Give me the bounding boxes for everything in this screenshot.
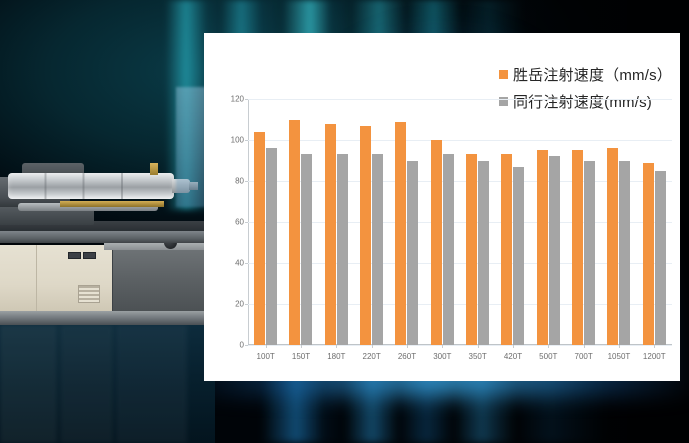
machine-plinth [0, 311, 215, 325]
x-tick: 220T [354, 345, 389, 361]
machine-floor-reflection [0, 325, 215, 443]
x-tick-mark [513, 345, 514, 348]
bar[interactable] [643, 163, 654, 345]
bar[interactable] [655, 171, 666, 345]
bar[interactable] [301, 154, 312, 345]
legend-swatch-icon-0 [499, 70, 508, 79]
bar[interactable] [395, 122, 406, 345]
x-tick-mark [336, 345, 337, 348]
machine-brass-fitting [150, 163, 158, 175]
x-tick-mark [372, 345, 373, 348]
y-tick-label: 60 [235, 218, 244, 227]
x-tick: 350T [460, 345, 495, 361]
bar[interactable] [407, 161, 418, 346]
x-tick: 420T [495, 345, 530, 361]
x-tick-mark [407, 345, 408, 348]
injection-molding-machine-photo [0, 0, 215, 443]
legend-label-0: 胜岳注射速度（mm/s） [513, 64, 672, 85]
machine-bed [0, 231, 215, 243]
bar-group [283, 99, 318, 345]
x-tick-mark [301, 345, 302, 348]
bar[interactable] [266, 148, 277, 345]
y-tick-label: 20 [235, 300, 244, 309]
y-tick-label: 100 [231, 136, 244, 145]
bar[interactable] [478, 161, 489, 346]
bar[interactable] [584, 161, 595, 346]
x-tick-mark [266, 345, 267, 348]
x-tick: 260T [389, 345, 424, 361]
plot-area: 020406080100120 [248, 99, 672, 345]
bar[interactable] [360, 126, 371, 345]
bar-group [460, 99, 495, 345]
bar[interactable] [513, 167, 524, 345]
x-tick: 150T [283, 345, 318, 361]
bar-group [354, 99, 389, 345]
bar-group [319, 99, 354, 345]
x-tick-mark [584, 345, 585, 348]
bar-group [601, 99, 636, 345]
machine-safety-guard [112, 247, 215, 311]
bar-group [495, 99, 530, 345]
machine-indicator-2 [83, 252, 96, 259]
x-tick-mark [654, 345, 655, 348]
x-tick: 700T [566, 345, 601, 361]
x-tick: 100T [248, 345, 283, 361]
bar-group [248, 99, 283, 345]
y-tick-label: 120 [231, 95, 244, 104]
bar[interactable] [254, 132, 265, 345]
x-axis-labels: 100T150T180T220T260T300T350T420T500T700T… [248, 345, 672, 361]
bar[interactable] [443, 154, 454, 345]
bar[interactable] [289, 120, 300, 346]
machine-barrel-bands [8, 173, 174, 199]
bar-group [531, 99, 566, 345]
machine-indicator-1 [68, 252, 81, 259]
bar[interactable] [431, 140, 442, 345]
slide-canvas: 胜岳注射速度（mm/s） 同行注射速度(mm/s) 02040608010012… [0, 0, 689, 443]
x-tick-mark [548, 345, 549, 348]
bar-group [425, 99, 460, 345]
x-tick: 300T [425, 345, 460, 361]
x-tick-mark [478, 345, 479, 348]
chart-card: 胜岳注射速度（mm/s） 同行注射速度(mm/s) 02040608010012… [204, 33, 680, 381]
bar-chart: 胜岳注射速度（mm/s） 同行注射速度(mm/s) 02040608010012… [204, 33, 680, 381]
machine-brass-rod [60, 201, 164, 207]
bar[interactable] [466, 154, 477, 345]
bar-group [389, 99, 424, 345]
machine-cabinet-seam [36, 245, 37, 311]
bar[interactable] [537, 150, 548, 345]
machine-vent-grille [78, 285, 100, 303]
bar[interactable] [619, 161, 630, 346]
y-tick-label: 80 [235, 177, 244, 186]
x-tick-mark [619, 345, 620, 348]
bar-group [637, 99, 672, 345]
machine-clamping-unit [176, 87, 206, 207]
bar-group [566, 99, 601, 345]
x-tick: 1050T [601, 345, 636, 361]
bar[interactable] [549, 156, 560, 345]
bar[interactable] [607, 148, 618, 345]
bar-groups [248, 99, 672, 345]
x-tick: 180T [319, 345, 354, 361]
bar[interactable] [572, 150, 583, 345]
x-tick: 500T [531, 345, 566, 361]
y-tick-label: 40 [235, 259, 244, 268]
x-tick-mark [442, 345, 443, 348]
bar[interactable] [372, 154, 383, 345]
x-tick: 1200T [637, 345, 672, 361]
bar[interactable] [501, 154, 512, 345]
legend-item-0[interactable]: 胜岳注射速度（mm/s） [499, 61, 672, 88]
bar[interactable] [325, 124, 336, 345]
y-tick-label: 0 [240, 341, 244, 350]
bar[interactable] [337, 154, 348, 345]
